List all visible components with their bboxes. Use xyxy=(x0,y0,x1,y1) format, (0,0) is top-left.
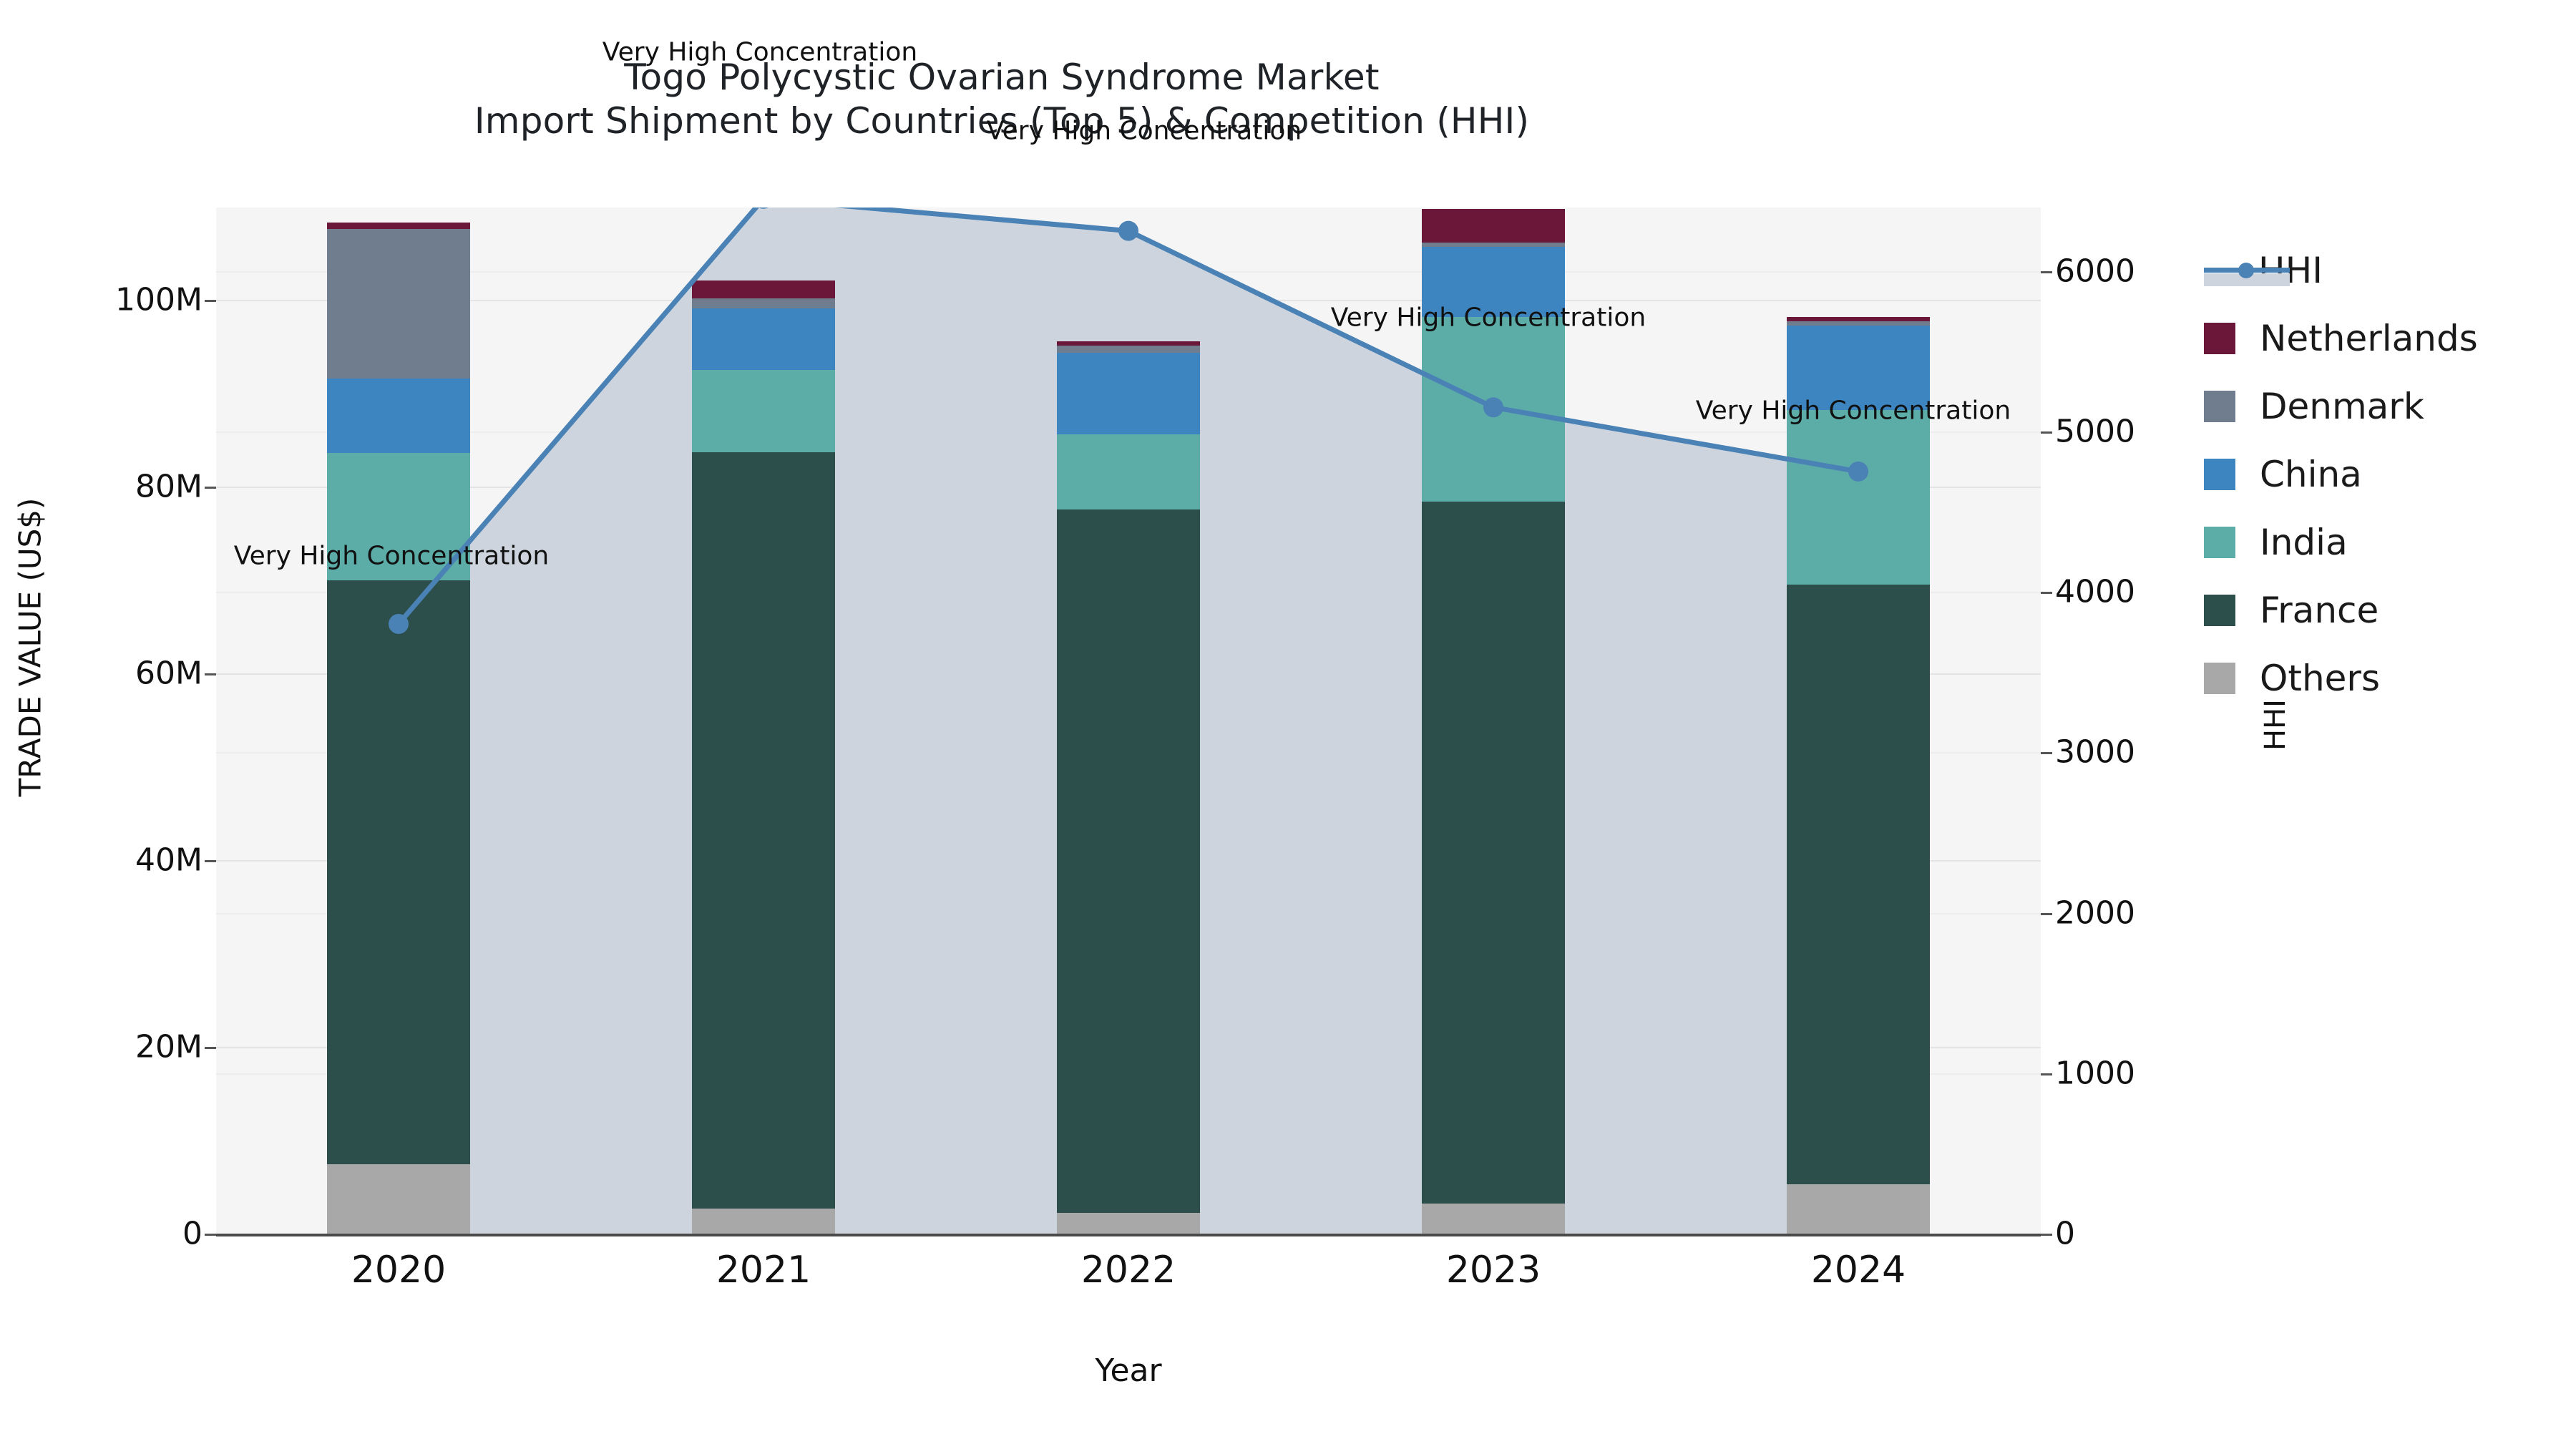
legend-item-netherlands[interactable]: Netherlands xyxy=(2204,304,2576,372)
y-tick-mark-right-5000 xyxy=(2041,431,2052,434)
x-axis-line xyxy=(216,1234,2041,1236)
y-axis-right-ticks: 0100020003000400050006000 xyxy=(2055,0,2270,1449)
y-tick-right-3000: 3000 xyxy=(2055,734,2135,771)
y-tick-right-6000: 6000 xyxy=(2055,253,2135,289)
annotation-2022: Very High Concentration xyxy=(987,116,1302,145)
legend-item-india[interactable]: India xyxy=(2204,508,2576,576)
legend-label-netherlands: Netherlands xyxy=(2260,318,2478,359)
legend-swatch-netherlands xyxy=(2204,323,2235,354)
annotation-2023: Very High Concentration xyxy=(1331,303,1646,333)
legend-item-china[interactable]: China xyxy=(2204,440,2576,508)
legend-swatch-denmark xyxy=(2204,391,2235,422)
y-tick-mark-left-100M xyxy=(205,300,216,302)
y-tick-left-100M: 100M xyxy=(115,282,203,318)
y-tick-right-2000: 2000 xyxy=(2055,894,2135,931)
hhi-line[interactable] xyxy=(399,208,1858,624)
legend-swatch-france xyxy=(2204,595,2235,626)
legend-swatch-china xyxy=(2204,459,2235,490)
y-tick-right-4000: 4000 xyxy=(2055,574,2135,610)
x-tick-2024: 2024 xyxy=(1811,1249,1906,1292)
legend-item-denmark[interactable]: Denmark xyxy=(2204,372,2576,440)
legend-line-marker-icon xyxy=(2204,255,2290,286)
y-tick-left-40M: 40M xyxy=(135,842,203,879)
chart-root: Togo Polycystic Ovarian Syndrome Market … xyxy=(0,0,2576,1449)
x-tick-2022: 2022 xyxy=(1081,1249,1176,1292)
plot-area xyxy=(216,208,2041,1234)
y-tick-mark-right-0 xyxy=(2041,1234,2052,1236)
x-tick-2021: 2021 xyxy=(716,1249,811,1292)
annotation-2024: Very High Concentration xyxy=(1696,396,2011,425)
y-tick-mark-right-2000 xyxy=(2041,913,2052,915)
hhi-marker-2022[interactable] xyxy=(1118,221,1138,241)
y-tick-left-60M: 60M xyxy=(135,655,203,692)
y-tick-mark-left-80M xyxy=(205,487,216,489)
legend-label-denmark: Denmark xyxy=(2260,386,2424,427)
y-tick-left-0: 0 xyxy=(182,1216,203,1252)
y-tick-mark-left-0 xyxy=(205,1234,216,1236)
y-tick-mark-right-4000 xyxy=(2041,592,2052,594)
hhi-marker-2020[interactable] xyxy=(389,614,409,634)
plot-inner xyxy=(216,208,2041,1234)
legend-item-france[interactable]: France xyxy=(2204,576,2576,644)
legend-item-others[interactable]: Others xyxy=(2204,644,2576,712)
x-tick-2020: 2020 xyxy=(351,1249,446,1292)
annotation-2021: Very High Concentration xyxy=(602,37,917,67)
hhi-line-svg xyxy=(216,208,2041,1234)
legend-item-hhi[interactable]: HHI xyxy=(2204,236,2576,304)
legend-swatch-india xyxy=(2204,527,2235,558)
y-tick-mark-left-40M xyxy=(205,860,216,862)
y-tick-mark-right-3000 xyxy=(2041,752,2052,754)
x-tick-2023: 2023 xyxy=(1446,1249,1541,1292)
y-tick-mark-right-6000 xyxy=(2041,271,2052,273)
y-tick-mark-left-20M xyxy=(205,1047,216,1049)
annotation-2020: Very High Concentration xyxy=(234,541,549,570)
hhi-marker-2024[interactable] xyxy=(1848,462,1868,482)
legend-label-china: China xyxy=(2260,454,2362,495)
y-tick-right-0: 0 xyxy=(2055,1216,2075,1252)
y-tick-mark-right-1000 xyxy=(2041,1073,2052,1075)
y-tick-left-20M: 20M xyxy=(135,1029,203,1065)
hhi-marker-2023[interactable] xyxy=(1483,397,1503,417)
legend: HHINetherlandsDenmarkChinaIndiaFranceOth… xyxy=(2204,236,2576,712)
x-axis-title: Year xyxy=(216,1352,2041,1389)
y-tick-right-1000: 1000 xyxy=(2055,1055,2135,1091)
legend-line-dot-icon xyxy=(2238,263,2254,278)
y-tick-left-80M: 80M xyxy=(135,469,203,505)
y-tick-right-5000: 5000 xyxy=(2055,413,2135,449)
legend-label-others: Others xyxy=(2260,658,2380,699)
y-axis-left-title: TRADE VALUE (US$) xyxy=(13,433,48,862)
chart-title-line-1: Togo Polycystic Ovarian Syndrome Market xyxy=(0,56,2004,99)
legend-label-france: France xyxy=(2260,590,2379,631)
legend-label-india: India xyxy=(2260,522,2348,563)
legend-swatch-others xyxy=(2204,663,2235,694)
y-tick-mark-left-60M xyxy=(205,673,216,675)
